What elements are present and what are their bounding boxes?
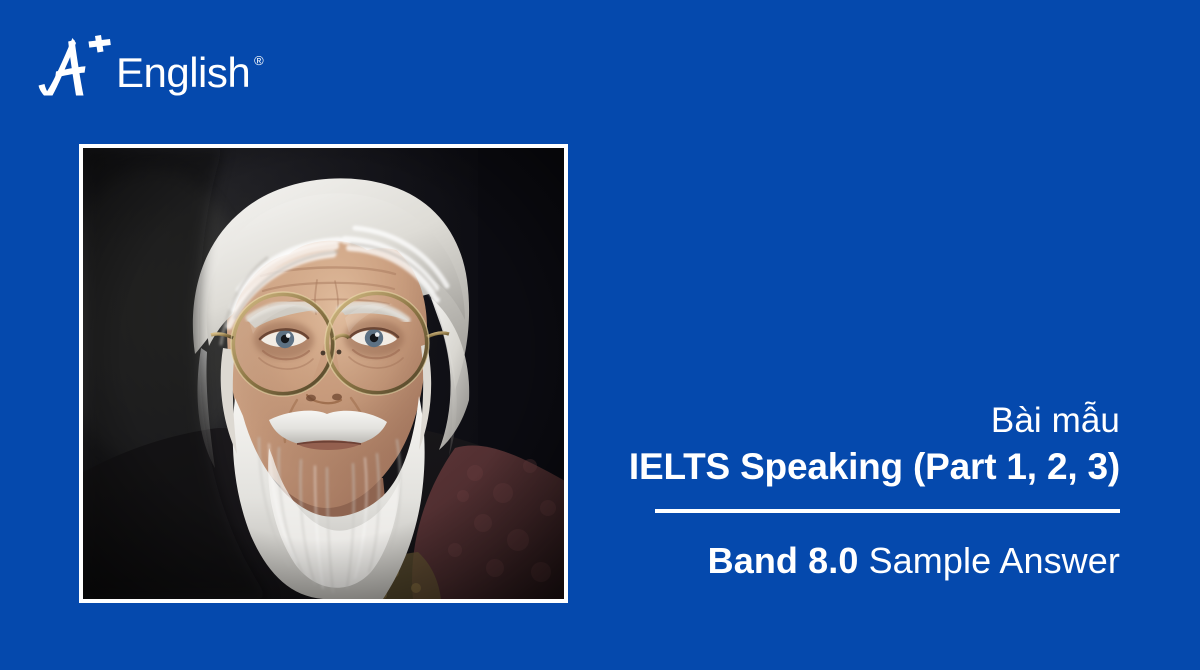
headline-kicker: Bài mẫu <box>560 400 1120 443</box>
portrait-frame <box>79 144 568 603</box>
headline-subtitle: Band 8.0 Sample Answer <box>560 539 1120 582</box>
portrait-photo <box>83 148 564 599</box>
logo-wordmark-text: English <box>116 49 250 96</box>
band-score-label: Band 8.0 <box>708 540 859 581</box>
banner-canvas: English® <box>0 0 1200 670</box>
brand-logo[interactable]: English® <box>38 34 250 96</box>
logo-wordmark: English® <box>116 52 250 94</box>
a-plus-mark-icon <box>38 34 112 96</box>
headline-title: IELTS Speaking (Part 1, 2, 3) <box>560 445 1120 489</box>
sample-answer-label: Sample Answer <box>858 540 1120 581</box>
registered-trademark-icon: ® <box>254 54 263 67</box>
headline-divider <box>655 509 1120 513</box>
headline-block: Bài mẫu IELTS Speaking (Part 1, 2, 3) Ba… <box>560 400 1120 582</box>
